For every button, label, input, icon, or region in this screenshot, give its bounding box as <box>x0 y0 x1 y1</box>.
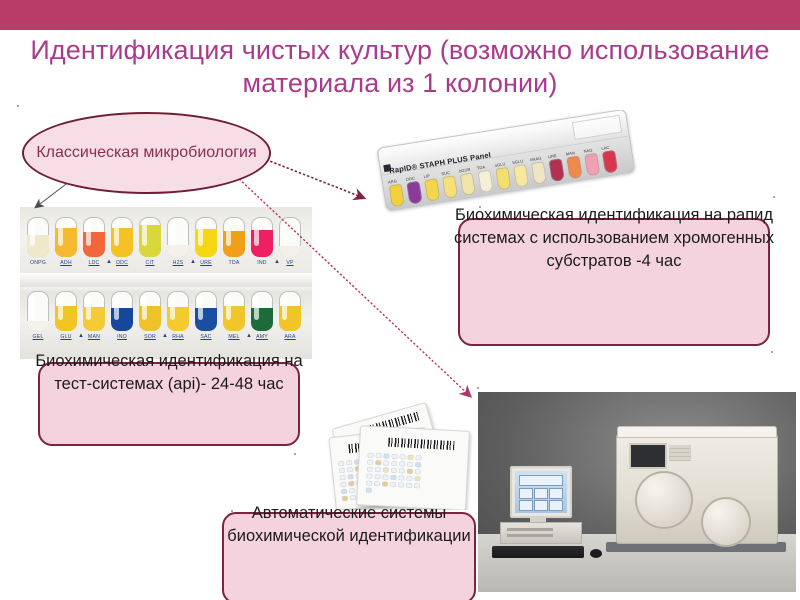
slide-canvas: Идентификация чистых культур (возможно и… <box>0 0 800 600</box>
api-test-systems-callout[interactable]: Биохимическая идентификация на тест-сист… <box>38 362 300 446</box>
automatic-systems-label: Автоматические системы биохимической иде… <box>210 502 488 548</box>
classic-microbiology-label: Классическая микробиология <box>34 143 259 163</box>
arrow-ellipse-to-rapid-panel <box>262 158 364 198</box>
classic-microbiology-callout[interactable]: Классическая микробиология <box>22 112 271 194</box>
automatic-systems-callout[interactable]: Автоматические системы биохимической иде… <box>222 512 476 600</box>
rapid-systems-label: Биохимическая идентификация на рапид сис… <box>446 204 782 273</box>
rapid-systems-callout[interactable]: Биохимическая идентификация на рапид сис… <box>458 218 770 346</box>
api-test-systems-label: Биохимическая идентификация на тест-сист… <box>26 350 312 396</box>
